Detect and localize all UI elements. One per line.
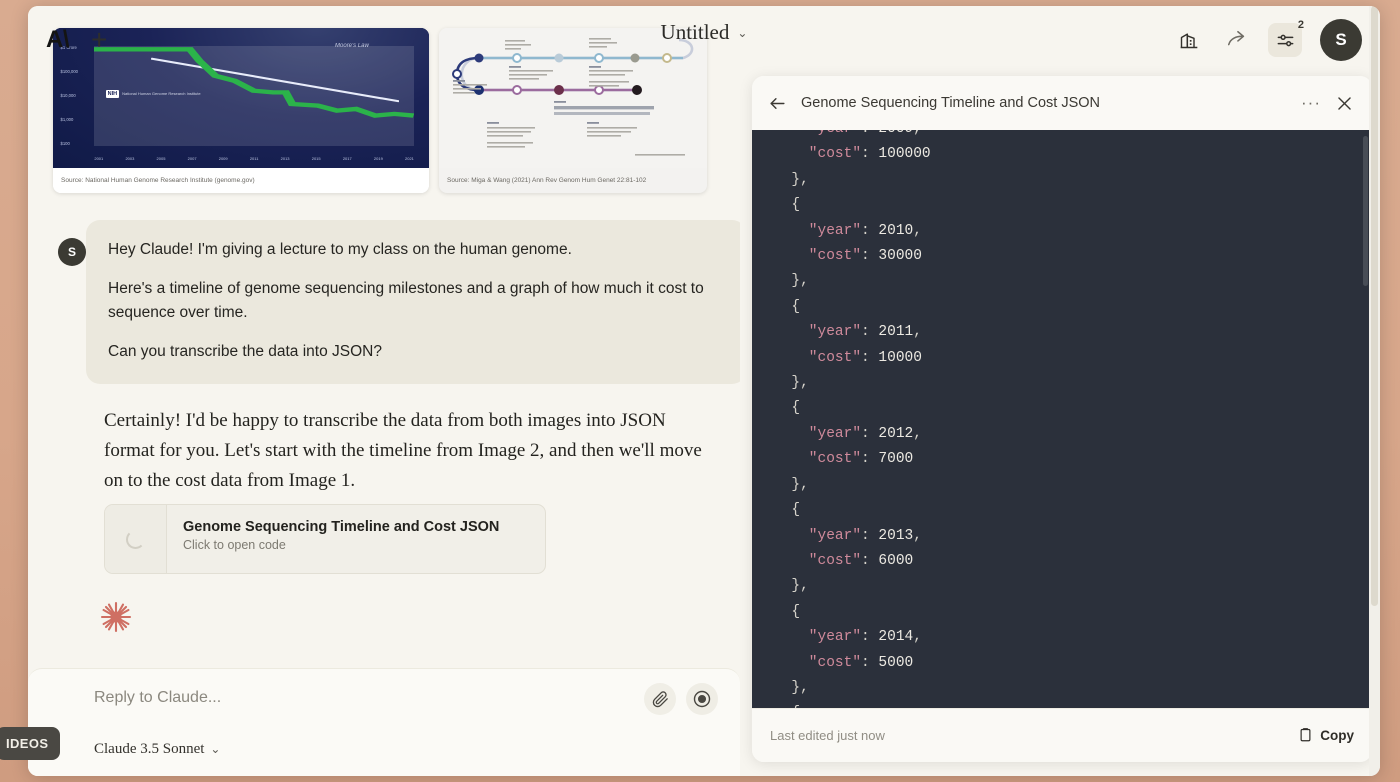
clipboard-icon	[1298, 727, 1313, 745]
page-scrollbar-thumb[interactable]	[1371, 6, 1378, 606]
chart-y-axis: $1 Crore$100,000$10,000$1,000$100	[61, 45, 78, 146]
back-arrow-icon[interactable]	[768, 94, 787, 113]
assistant-message: Certainly! I'd be happy to transcribe th…	[104, 406, 704, 496]
artifact-subtitle: Click to open code	[183, 538, 499, 552]
page-title: Untitled	[661, 20, 730, 45]
paperclip-icon[interactable]	[644, 683, 676, 715]
send-button[interactable]	[686, 683, 718, 715]
model-selector[interactable]: Claude 3.5 Sonnet ⌄	[94, 741, 220, 758]
last-edited-status: Last edited just now	[770, 728, 885, 743]
conversation-scroll-area[interactable]: Moore's Law $1 Crore$100,000$10,000$1,00…	[28, 6, 740, 668]
nih-logo-subtitle: National Human Genome Research Institute	[122, 91, 200, 96]
nih-logo: NIH	[106, 90, 119, 98]
artifact-title: Genome Sequencing Timeline and Cost JSON	[183, 519, 499, 535]
code-panel-footer: Last edited just now Copy	[752, 708, 1372, 762]
user-message-paragraph: Can you transcribe the data into JSON?	[108, 340, 724, 364]
code-panel-title: Genome Sequencing Timeline and Cost JSON	[801, 95, 1287, 111]
user-message: S Hey Claude! I'm giving a lecture to my…	[86, 220, 740, 384]
sparkle-icon	[99, 600, 133, 634]
nih-logo-block: NIH National Human Genome Research Insti…	[106, 90, 201, 98]
close-icon[interactable]	[1335, 94, 1354, 113]
model-name: Claude 3.5 Sonnet	[94, 741, 204, 758]
page-scrollbar[interactable]	[1369, 6, 1380, 776]
settings-badge: 2	[1298, 19, 1304, 31]
copy-button[interactable]: Copy	[1298, 727, 1354, 745]
code-editor[interactable]: "year": 2009, "cost": 100000 }, { "year"…	[752, 130, 1372, 708]
side-tab-label: IDEOS	[6, 736, 48, 751]
timeline-diagram-image	[439, 28, 707, 168]
loading-spinner-icon	[105, 505, 167, 573]
code-content: "year": 2009, "cost": 100000 }, { "year"…	[752, 130, 1372, 708]
attachment-previews: Moore's Law $1 Crore$100,000$10,000$1,00…	[53, 28, 733, 193]
sliders-icon[interactable]: 2	[1268, 23, 1302, 57]
attachment-genome-cost-chart[interactable]: Moore's Law $1 Crore$100,000$10,000$1,00…	[53, 28, 429, 193]
attachment-timeline-diagram[interactable]: Source: Miga & Wang (2021) Ann Rev Genom…	[439, 28, 707, 193]
app-window: Moore's Law $1 Crore$100,000$10,000$1,00…	[28, 6, 1380, 776]
genome-cost-chart-image: Moore's Law $1 Crore$100,000$10,000$1,00…	[53, 28, 429, 168]
building-icon[interactable]	[1172, 23, 1206, 57]
timeline-svg	[439, 28, 707, 168]
ellipsis-icon[interactable]: ···	[1301, 93, 1321, 113]
side-tab-videos[interactable]: IDEOS	[0, 727, 60, 760]
user-message-paragraph: Here's a timeline of genome sequencing m…	[108, 277, 724, 325]
chart-x-axis: 2001200320052007200920112013201520172019…	[94, 156, 414, 161]
code-panel-header: Genome Sequencing Timeline and Cost JSON…	[752, 76, 1372, 130]
chevron-down-icon: ⌄	[210, 742, 220, 757]
code-scrollbar[interactable]	[1363, 136, 1368, 286]
chevron-down-icon[interactable]: ⌄	[737, 26, 747, 40]
conversation-column: Moore's Law $1 Crore$100,000$10,000$1,00…	[28, 6, 740, 776]
artifact-code-panel: Genome Sequencing Timeline and Cost JSON…	[752, 76, 1372, 762]
artifact-card[interactable]: Genome Sequencing Timeline and Cost JSON…	[104, 504, 546, 574]
message-composer: Reply to Claude... Claude 3.5 Sonnet ⌄	[28, 668, 740, 776]
attachment-caption: Source: National Human Genome Research I…	[53, 168, 429, 193]
user-message-paragraph: Hey Claude! I'm giving a lecture to my c…	[108, 238, 724, 262]
attachment-caption: Source: Miga & Wang (2021) Ann Rev Genom…	[439, 168, 707, 193]
assistant-message-text: Certainly! I'd be happy to transcribe th…	[104, 406, 704, 496]
share-arrow-icon[interactable]	[1220, 23, 1254, 57]
reply-input[interactable]: Reply to Claude...	[94, 689, 221, 707]
copy-label: Copy	[1320, 728, 1354, 743]
avatar: S	[58, 238, 86, 266]
